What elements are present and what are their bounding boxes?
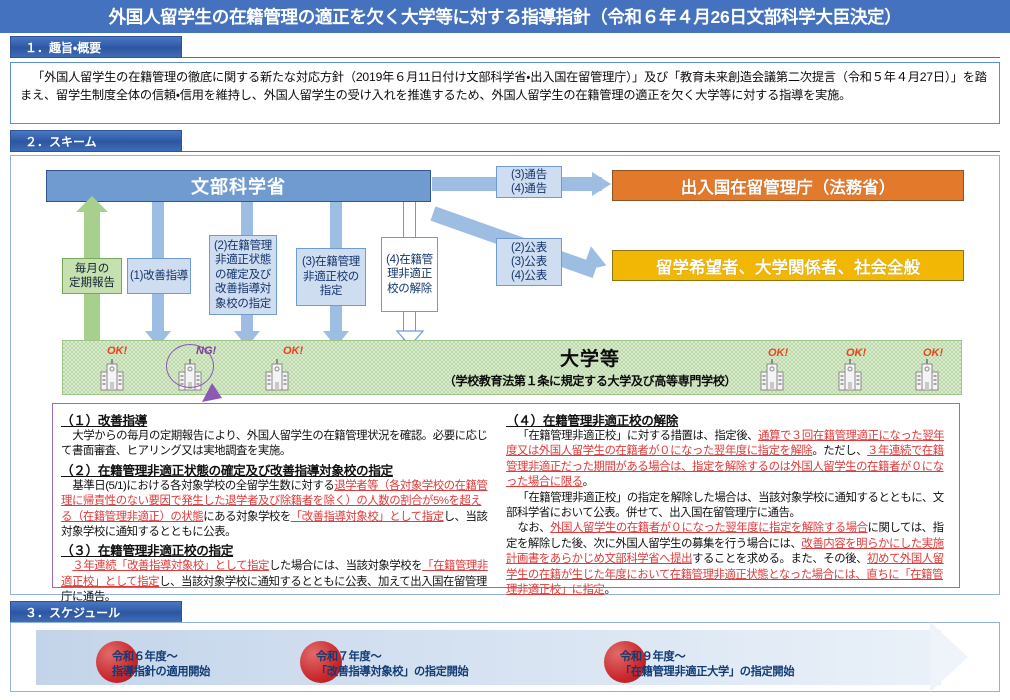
university-title-group: 大学等 （学校教育法第１条に規定する大学及び高等専門学校）: [380, 344, 800, 389]
publish-line-2: (3)公表: [511, 255, 547, 269]
public-audience-box: 留学希望者、大学関係者、社会全般: [612, 250, 964, 281]
publish-line-1: (2)公表: [511, 241, 547, 255]
publish-line-3: (4)公表: [511, 269, 547, 283]
section-heading-scheme: ２．スキーム: [10, 130, 182, 152]
mext-label: 文部科学省: [191, 173, 286, 199]
detail-body-5: 「在籍管理非適正校」の指定を解除した場合は、当該対象学校に通知するとともに、文部…: [506, 491, 951, 522]
university-building-icon: [100, 358, 124, 392]
detail-column-left: （１）改善指導 大学からの毎月の定期報告により、外国人留学生の在籍管理状況を確認…: [53, 404, 498, 587]
schedule-item-2-line2: 「在籍管理非適正大学」の指定開始: [620, 665, 794, 680]
schedule-item-1: 令和７年度～ 「改善指導対象校」の指定開始: [316, 650, 468, 680]
detail-heading-2: （２）在籍管理非適正状態の確定及び改善指導対象校の指定: [61, 460, 490, 479]
university-building-icon: [760, 358, 784, 392]
step-box-3: (3)在籍管理非適正校の指定: [296, 248, 366, 306]
detail-body-4: 「在籍管理非適正校」に対する措置は、指定後、通算で３回在籍管理適正になった翌年度…: [506, 429, 951, 491]
section-heading-schedule: ３．スケジュール: [10, 601, 182, 623]
marker-label-0: OK!: [107, 345, 127, 357]
step-box-2: (2)在籍管理非適正状態の確定及び改善指導対象校の指定: [209, 235, 277, 315]
marker-label-1: NG!: [196, 345, 216, 357]
marker-label-5: OK!: [923, 347, 943, 359]
university-subtitle: （学校教育法第１条に規定する大学及び高等専門学校）: [380, 372, 800, 389]
marker-label-4: OK!: [846, 347, 866, 359]
section-underline-1: [182, 57, 1000, 58]
university-building-icon: [838, 358, 862, 392]
detail-body-1: 大学からの毎月の定期報告により、外国人留学生の在籍管理状況を確認。必要に応じて書…: [61, 429, 490, 460]
section-heading-overview-label: １．趣旨・概要: [11, 39, 101, 56]
publish-label-box: (2)公表 (3)公表 (4)公表: [496, 238, 562, 286]
notice-arrow-head-icon: [592, 172, 611, 196]
schedule-item-1-line1: 令和７年度～: [316, 650, 468, 665]
section-heading-overview: １．趣旨・概要: [10, 36, 182, 58]
detail-heading-3: （３）在籍管理非適正校の指定: [61, 540, 490, 559]
schedule-item-0: 令和６年度～ 指導指針の適用開始: [112, 650, 210, 680]
schedule-item-0-line1: 令和６年度～: [112, 650, 210, 665]
schedule-item-1-line2: 「改善指導対象校」の指定開始: [316, 665, 468, 680]
policy-infographic: 外国人留学生の在籍管理の適正を欠く大学等に対する指導指針（令和６年４月26日文部…: [0, 0, 1010, 700]
detail-body-3: ３年連続「改善指導対象校」として指定した場合には、当該対象学校を「在籍管理非適正…: [61, 559, 490, 605]
immigration-agency-box: 出入国在留管理庁（法務省）: [612, 170, 964, 201]
schedule-arrow-head-icon: [930, 622, 968, 692]
overview-textbox: 「外国人留学生の在籍管理の徹底に関する新たな対応方針（2019年６月11日付け文…: [10, 62, 1000, 124]
step-box-1: (1)改善指導: [127, 258, 191, 294]
schedule-item-0-line2: 指導指針の適用開始: [112, 665, 210, 680]
step-box-4: (4)在籍管理非適正校の解除: [381, 237, 438, 312]
detail-column-right: （４）在籍管理非適正校の解除 「在籍管理非適正校」に対する措置は、指定後、通算で…: [498, 404, 959, 587]
monthly-report-arrow-head-icon: [76, 196, 108, 212]
marker-label-3: OK!: [768, 347, 788, 359]
monthly-report-line-1: 毎月の: [69, 262, 115, 276]
section-underline-2: [182, 151, 1000, 152]
schedule-item-2: 令和９年度～ 「在籍管理非適正大学」の指定開始: [620, 650, 794, 680]
monthly-report-line-2: 定期報告: [69, 276, 115, 290]
page-title: 外国人留学生の在籍管理の適正を欠く大学等に対する指導指針（令和６年４月26日文部…: [109, 4, 902, 29]
detail-panel: （１）改善指導 大学からの毎月の定期報告により、外国人留学生の在籍管理状況を確認…: [52, 403, 960, 588]
detail-heading-4: （４）在籍管理非適正校の解除: [506, 410, 951, 429]
overview-text: 「外国人留学生の在籍管理の徹底に関する新たな対応方針（2019年６月11日付け文…: [20, 69, 990, 104]
notice-line-1: (3)通告: [511, 168, 547, 182]
university-building-icon: [915, 358, 939, 392]
notice-label-box: (3)通告 (4)通告: [496, 166, 562, 198]
schedule-item-2-line1: 令和９年度～: [620, 650, 794, 665]
marker-label-2: OK!: [283, 345, 303, 357]
section-heading-schedule-label: ３．スケジュール: [11, 604, 120, 621]
detail-body-2: 基準日(5/1)における各対象学校の全留学生数に対する退学者等（各対象学校の在籍…: [61, 479, 490, 541]
detail-body-6: なお、外国人留学生の在籍者が０になった翌年度に指定を解除する場合に関しては、指定…: [506, 521, 951, 598]
section-heading-scheme-label: ２．スキーム: [11, 133, 97, 150]
university-title: 大学等: [380, 344, 800, 371]
page-title-bar: 外国人留学生の在籍管理の適正を欠く大学等に対する指導指針（令和６年４月26日文部…: [0, 0, 1010, 33]
public-audience-label: 留学希望者、大学関係者、社会全般: [656, 254, 920, 278]
monthly-report-box: 毎月の 定期報告: [62, 258, 122, 294]
detail-heading-1: （１）改善指導: [61, 410, 490, 429]
immigration-agency-label: 出入国在留管理庁（法務省）: [681, 174, 896, 198]
notice-line-2: (4)通告: [511, 182, 547, 196]
